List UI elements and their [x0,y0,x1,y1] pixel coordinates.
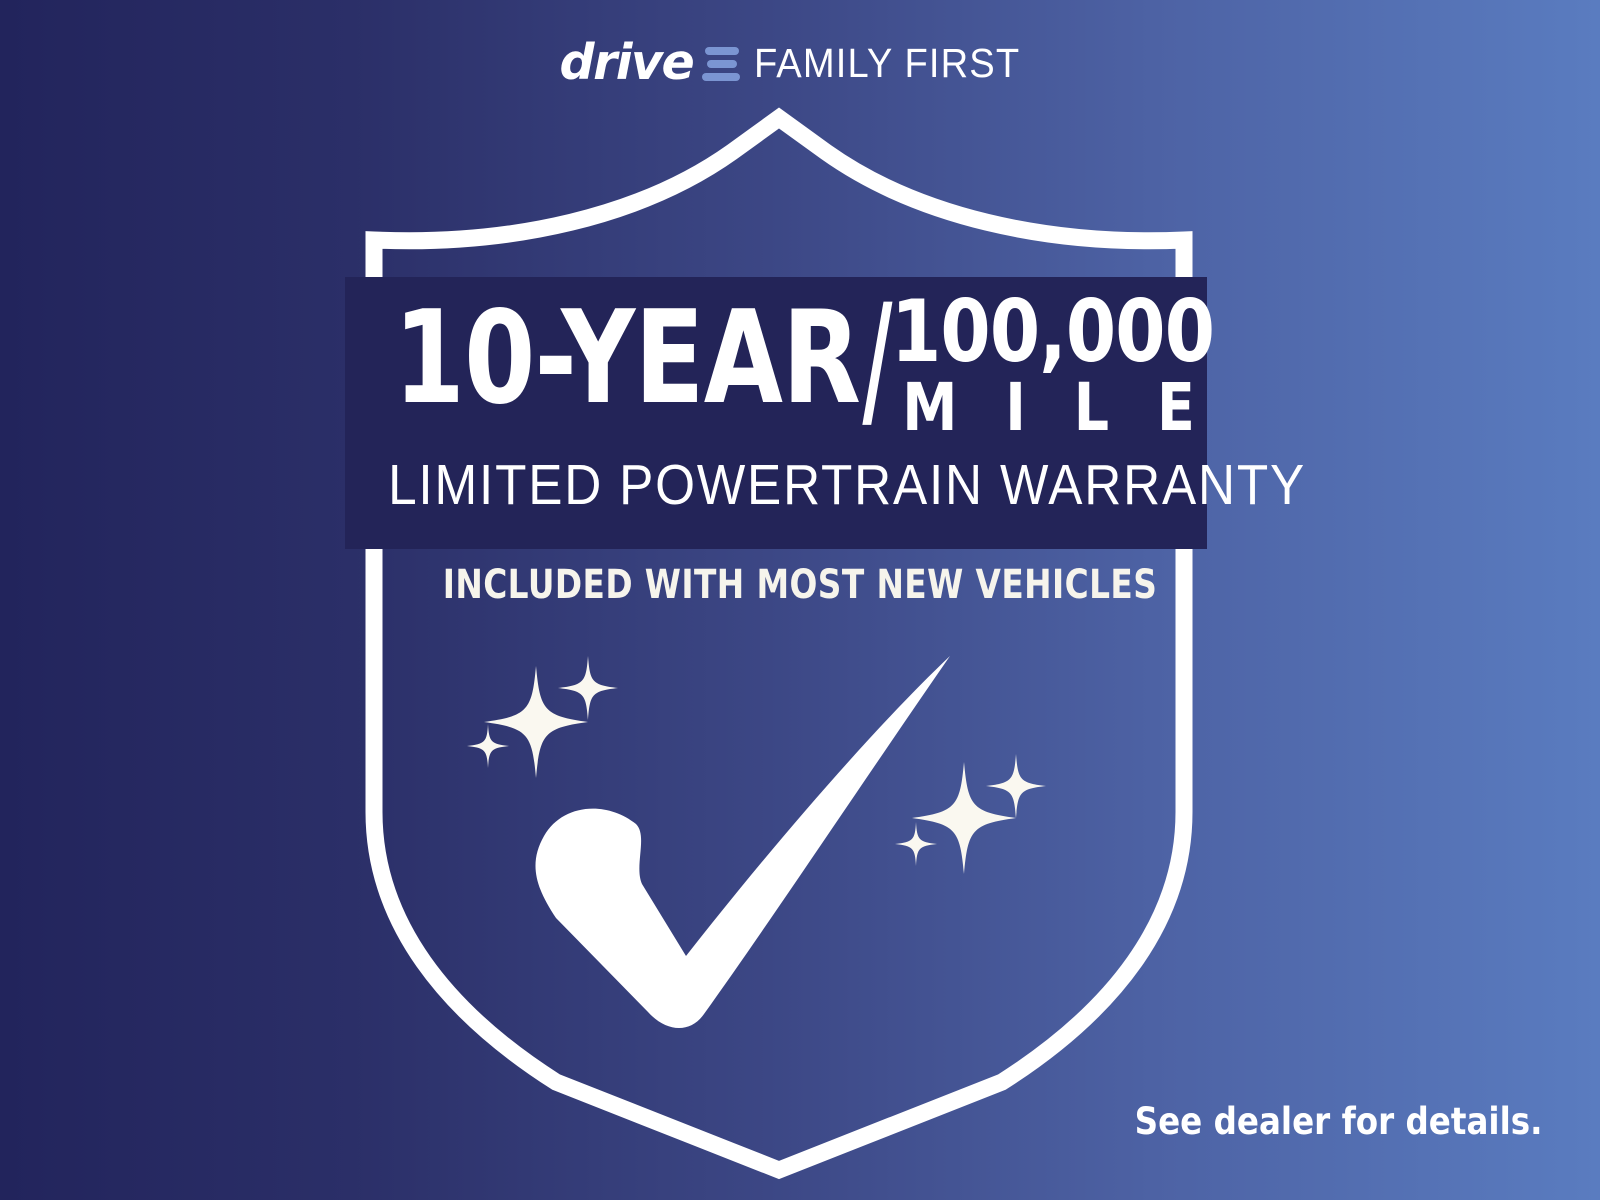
three-bars-icon [702,47,740,81]
sparkle-icon [467,656,618,778]
sparkle-icon [895,754,1046,874]
brand-header: drive FAMILY FIRST [0,34,1600,92]
coverage-label: LIMITED POWERTRAIN WARRANTY [388,457,1164,514]
mileage-block: 100,000 M I L E [891,295,1214,441]
brand-wordmark: drive [560,38,694,87]
brand-tagline: FAMILY FIRST [754,40,1020,87]
warranty-headline: 10-YEAR / 100,000 M I L E [345,291,1207,441]
warranty-term: 10-YEAR [393,295,860,423]
mileage-unit: M I L E [902,375,1214,441]
mileage-number: 100,000 [891,295,1214,371]
inclusion-note: INCLUDED WITH MOST NEW VEHICLES [144,565,1456,605]
disclaimer-text: See dealer for details. [1134,1103,1542,1140]
warranty-banner: 10-YEAR / 100,000 M I L E LIMITED POWERT… [345,277,1207,549]
checkmark-icon [440,640,1060,1040]
separator-slash: / [862,285,892,435]
